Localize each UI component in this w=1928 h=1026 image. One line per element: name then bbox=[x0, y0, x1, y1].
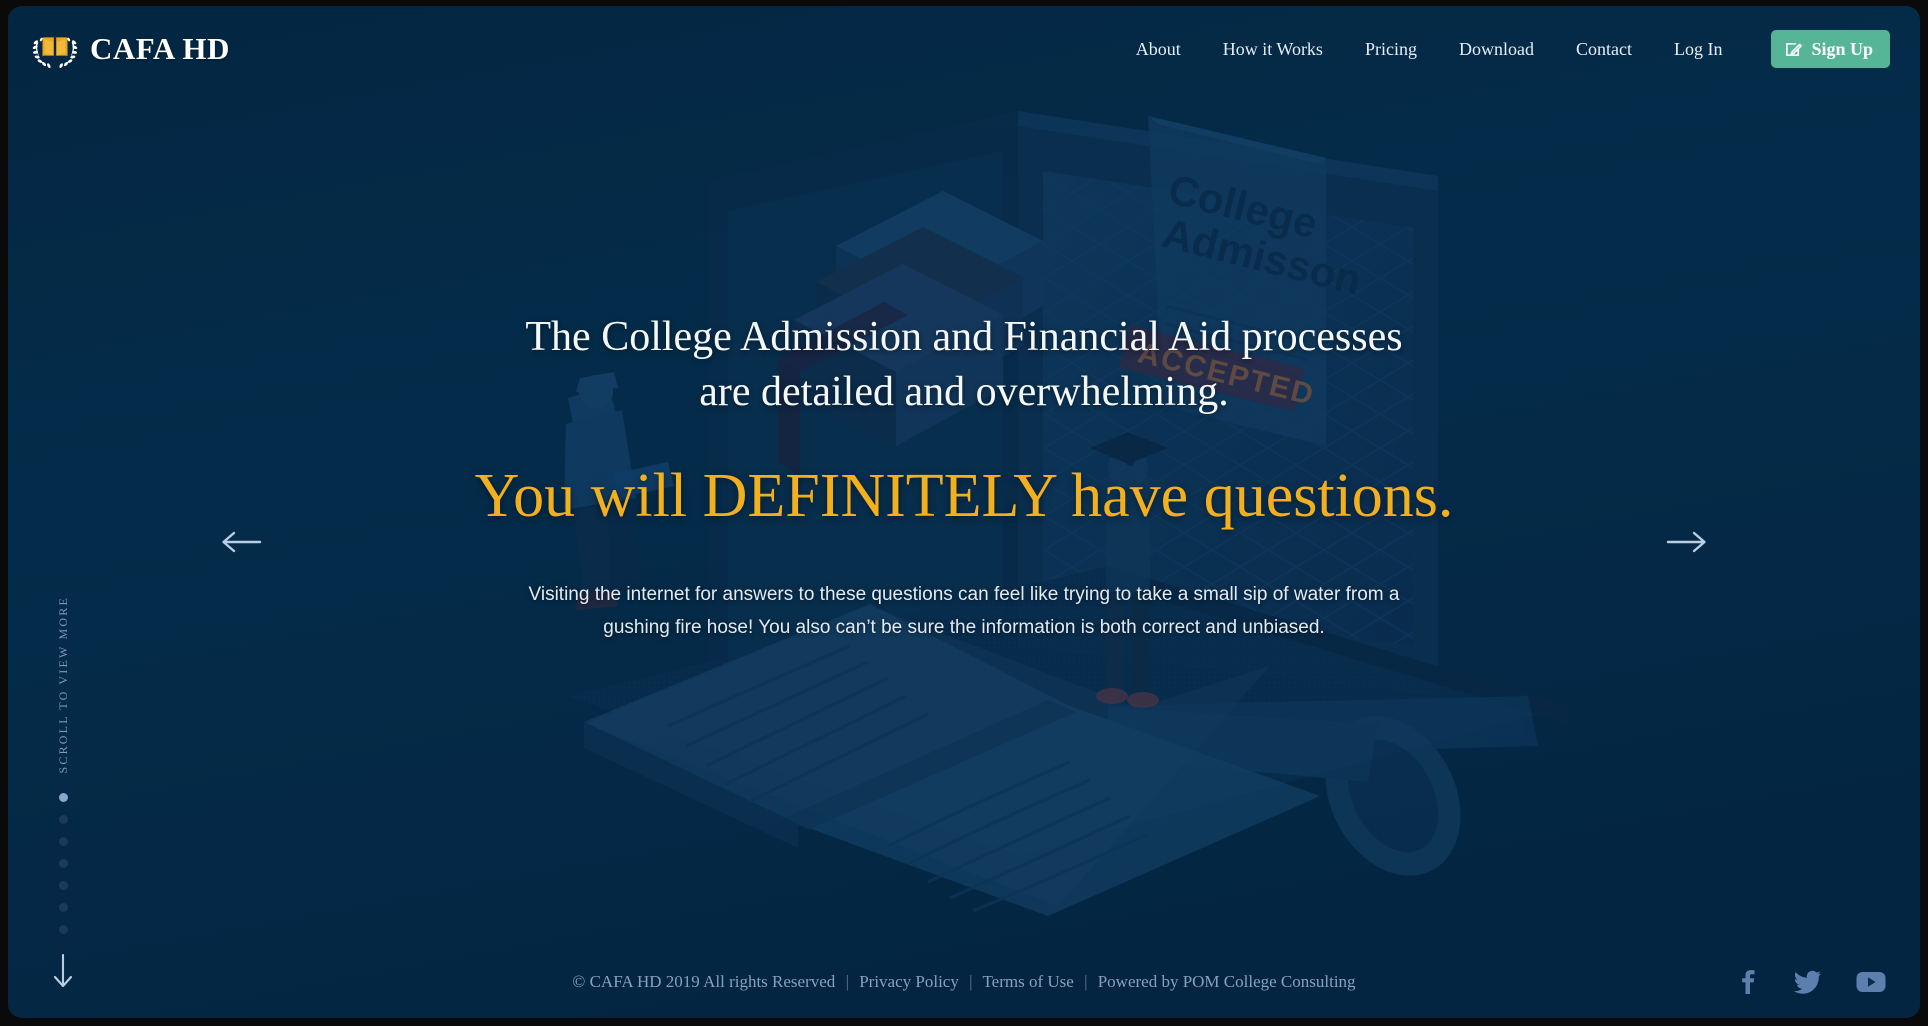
hero-highlight: You will DEFINITELY have questions. bbox=[475, 461, 1454, 532]
scroll-dot-2[interactable] bbox=[59, 815, 68, 824]
hero-title-line-2: are detailed and overwhelming. bbox=[525, 365, 1402, 420]
scroll-dot-7[interactable] bbox=[59, 925, 68, 934]
nav-item-about[interactable]: About bbox=[1115, 31, 1202, 68]
scroll-dot-1[interactable] bbox=[59, 793, 68, 802]
hero-section: The College Admission and Financial Aid … bbox=[8, 6, 1920, 1018]
scroll-dot-list bbox=[59, 793, 68, 934]
scroll-dot-4[interactable] bbox=[59, 859, 68, 868]
sign-up-label: Sign Up bbox=[1811, 39, 1873, 60]
youtube-icon[interactable] bbox=[1856, 971, 1886, 993]
brand-name: CAFA HD bbox=[90, 31, 230, 67]
hero-title: The College Admission and Financial Aid … bbox=[525, 310, 1402, 421]
social-links bbox=[1736, 969, 1886, 995]
footer-link-powered-by[interactable]: Powered by POM College Consulting bbox=[1098, 972, 1356, 991]
footer-link-terms-of-use[interactable]: Terms of Use bbox=[982, 972, 1073, 991]
scroll-dot-5[interactable] bbox=[59, 881, 68, 890]
facebook-icon[interactable] bbox=[1736, 969, 1760, 995]
footer-legal-text: © CAFA HD 2019 All rights Reserved | Pri… bbox=[572, 972, 1355, 992]
carousel-next-button[interactable] bbox=[1659, 514, 1715, 570]
nav-item-download[interactable]: Download bbox=[1438, 31, 1555, 68]
brand-logo[interactable]: CAFA HD bbox=[30, 28, 230, 70]
footer-separator-3: | bbox=[1078, 972, 1093, 991]
nav-item-pricing[interactable]: Pricing bbox=[1344, 31, 1438, 68]
twitter-icon[interactable] bbox=[1794, 970, 1822, 994]
hero-body-line-1: Visiting the internet for answers to the… bbox=[529, 584, 1400, 605]
footer-link-privacy-policy[interactable]: Privacy Policy bbox=[859, 972, 959, 991]
scroll-dot-6[interactable] bbox=[59, 903, 68, 912]
site-header: CAFA HD About How it Works Pricing Downl… bbox=[8, 6, 1920, 92]
nav-item-log-in[interactable]: Log In bbox=[1653, 31, 1744, 68]
arrow-left-icon bbox=[220, 529, 262, 555]
hero-body-line-2: gushing fire hose! You also can’t be sur… bbox=[529, 611, 1400, 644]
hero-body-text: Visiting the internet for answers to the… bbox=[529, 578, 1400, 645]
carousel-prev-button[interactable] bbox=[213, 514, 269, 570]
hero-title-line-1: The College Admission and Financial Aid … bbox=[525, 314, 1402, 360]
pen-edit-icon bbox=[1784, 40, 1803, 59]
arrow-right-icon bbox=[1666, 529, 1708, 555]
scroll-label: SCROLL TO VIEW MORE bbox=[56, 596, 71, 773]
footer-separator-2: | bbox=[963, 972, 978, 991]
page-root: College Admisson ACCEPTED bbox=[8, 6, 1920, 1018]
scroll-indicator: SCROLL TO VIEW MORE bbox=[46, 596, 80, 988]
nav-item-contact[interactable]: Contact bbox=[1555, 31, 1653, 68]
open-book-laurel-icon bbox=[30, 28, 80, 70]
browser-frame: College Admisson ACCEPTED bbox=[0, 0, 1928, 1026]
footer-copyright: © CAFA HD 2019 All rights Reserved bbox=[572, 972, 835, 991]
footer-separator-1: | bbox=[840, 972, 855, 991]
site-footer: © CAFA HD 2019 All rights Reserved | Pri… bbox=[8, 946, 1920, 1018]
nav-item-how-it-works[interactable]: How it Works bbox=[1202, 31, 1344, 68]
sign-up-button[interactable]: Sign Up bbox=[1771, 30, 1890, 68]
scroll-dot-3[interactable] bbox=[59, 837, 68, 846]
main-navigation: About How it Works Pricing Download Cont… bbox=[1115, 30, 1890, 68]
